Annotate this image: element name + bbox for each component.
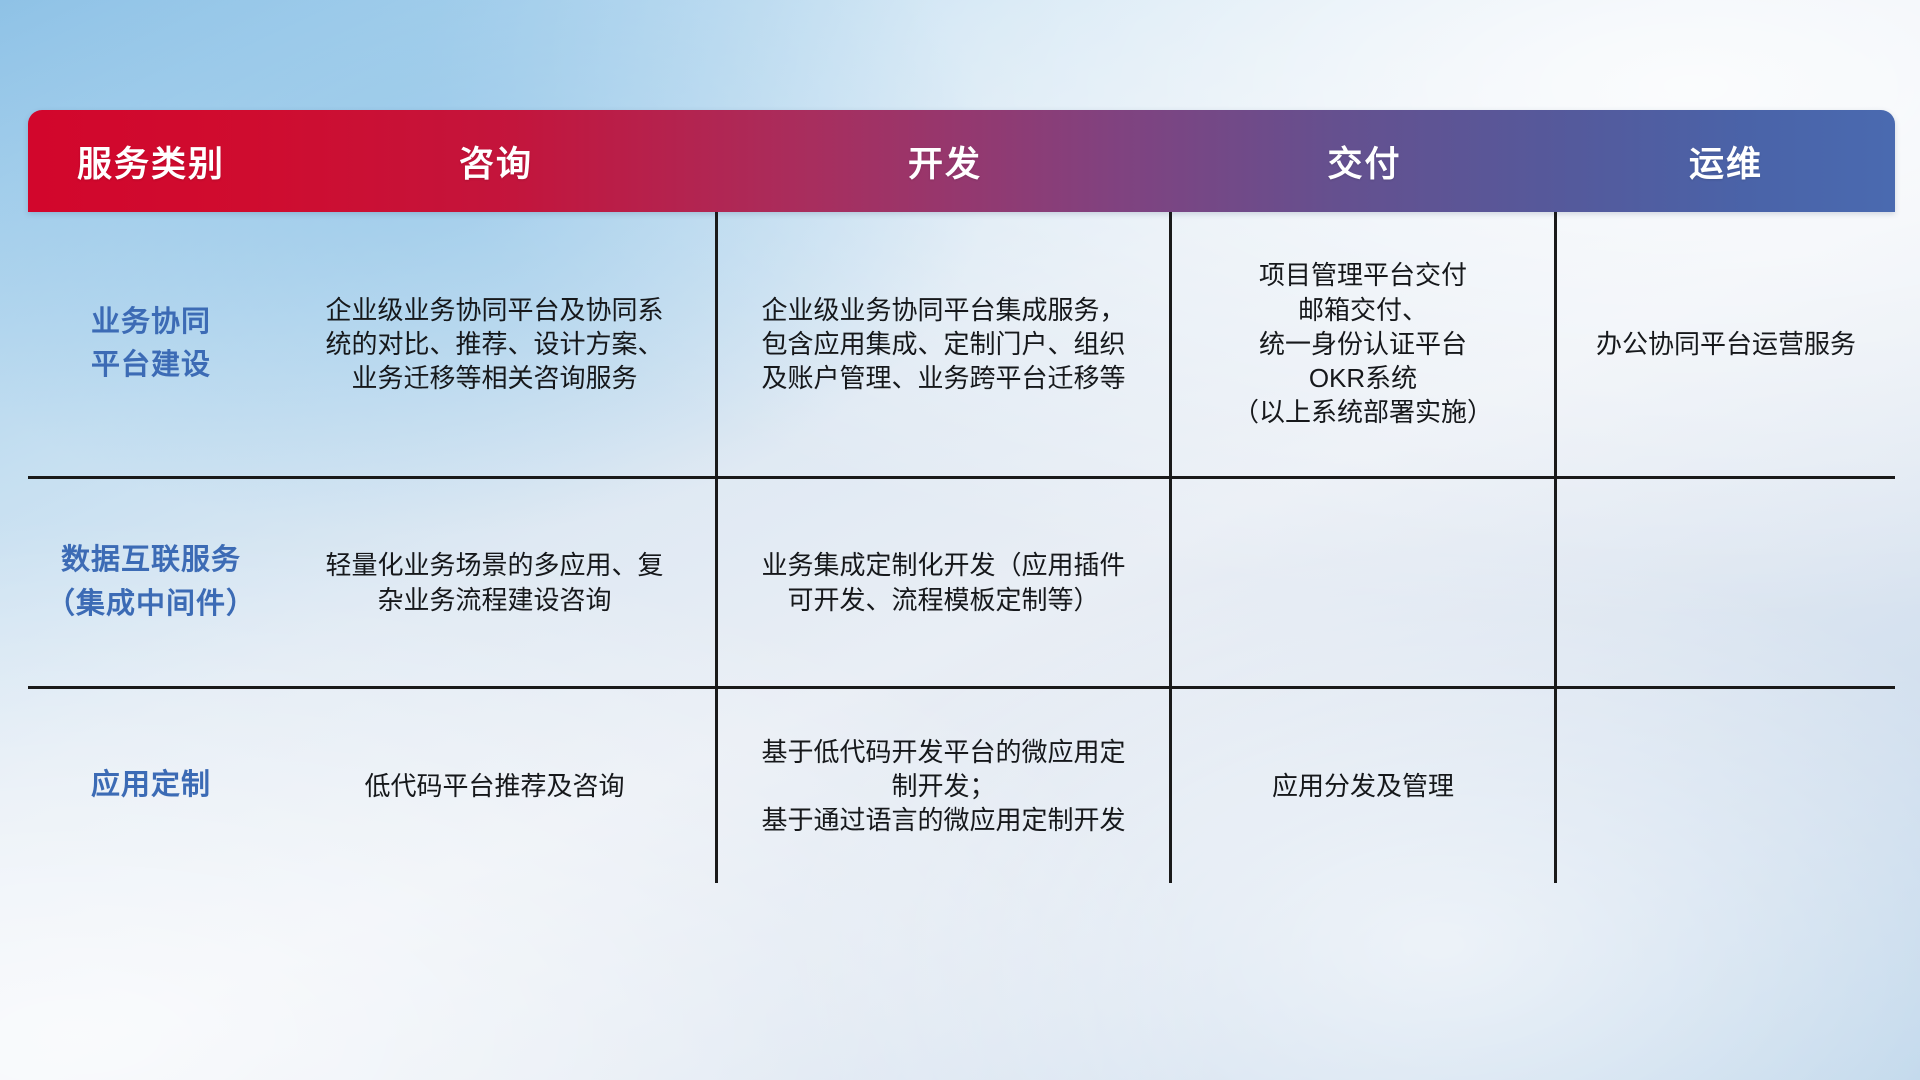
- row-delivery-cell: 项目管理平台交付 邮箱交付、 统一身份认证平台 OKR系统 （以上系统部署实施）: [1172, 212, 1557, 476]
- table-row: 业务协同 平台建设 企业级业务协同平台及协同系 统的对比、推荐、设计方案、 业务…: [28, 212, 1895, 479]
- column-header-label: 交付: [1327, 136, 1401, 187]
- column-header-service-category: 服务类别: [28, 110, 274, 212]
- row-consulting-cell: 低代码平台推荐及咨询: [274, 689, 718, 883]
- row-category-cell: 数据互联服务 （集成中间件）: [28, 479, 274, 686]
- row-category-cell: 业务协同 平台建设: [28, 212, 274, 476]
- column-header-label: 开发: [908, 136, 982, 187]
- column-header-label: 服务类别: [77, 136, 225, 187]
- row-consulting-cell: 企业级业务协同平台及协同系 统的对比、推荐、设计方案、 业务迁移等相关咨询服务: [274, 212, 718, 476]
- row-development-cell: 企业级业务协同平台集成服务， 包含应用集成、定制门户、组织 及账户管理、业务跨平…: [718, 212, 1172, 476]
- row-development-cell: 业务集成定制化开发（应用插件 可开发、流程模板定制等）: [718, 479, 1172, 686]
- row-delivery-cell: 应用分发及管理: [1172, 689, 1557, 883]
- row-consulting-cell: 轻量化业务场景的多应用、复 杂业务流程建设咨询: [274, 479, 718, 686]
- table-row: 数据互联服务 （集成中间件） 轻量化业务场景的多应用、复 杂业务流程建设咨询 业…: [28, 479, 1895, 689]
- row-operations-cell: [1557, 689, 1895, 883]
- service-matrix-table: 服务类别 咨询 开发 交付 运维 业务协同 平台建设 企业级业务协同平台及协同系…: [28, 110, 1895, 775]
- column-header-label: 咨询: [459, 136, 533, 187]
- row-delivery-cell: [1172, 479, 1557, 686]
- row-category-cell: 应用定制: [28, 689, 274, 883]
- table-row: 应用定制 低代码平台推荐及咨询 基于低代码开发平台的微应用定 制开发； 基于通过…: [28, 689, 1895, 883]
- table-header-row: 服务类别 咨询 开发 交付 运维: [28, 110, 1895, 212]
- row-operations-cell: 办公协同平台运营服务: [1557, 212, 1895, 476]
- column-header-consulting: 咨询: [274, 110, 718, 212]
- column-header-label: 运维: [1689, 136, 1763, 187]
- column-header-delivery: 交付: [1172, 110, 1557, 212]
- row-development-cell: 基于低代码开发平台的微应用定 制开发； 基于通过语言的微应用定制开发: [718, 689, 1172, 883]
- slide-canvas: 服务类别 咨询 开发 交付 运维 业务协同 平台建设 企业级业务协同平台及协同系…: [0, 0, 1920, 1080]
- column-header-development: 开发: [718, 110, 1172, 212]
- row-operations-cell: [1557, 479, 1895, 686]
- column-header-operations: 运维: [1557, 110, 1895, 212]
- table-body: 业务协同 平台建设 企业级业务协同平台及协同系 统的对比、推荐、设计方案、 业务…: [28, 212, 1895, 883]
